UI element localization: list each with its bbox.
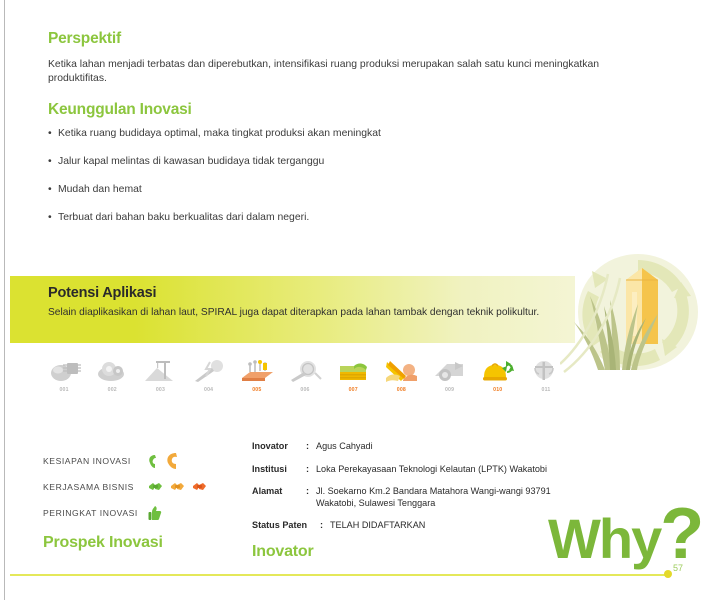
prospek-label: PERINGKAT INOVASI [43,508,148,518]
prospek-row-kesiapan: KESIAPAN INOVASI [43,448,248,474]
microchip-electronics-icon [40,356,88,384]
prospek-row-kerjasama: KERJASAMA BISNIS [43,474,248,500]
potensi-title: Potensi Aplikasi [48,285,156,301]
info-row-status-paten: Status Paten : TELAH DIDAFTARKAN [252,520,552,532]
info-value: TELAH DIDAFTARKAN [330,520,425,532]
prospek-inovasi-section: KESIAPAN INOVASI KERJASAMA BISNIS PERING… [43,448,248,552]
perspektif-title: Perspektif [48,30,648,48]
aquaculture-farm-icon [233,356,281,384]
info-colon: : [306,464,316,476]
machinery-gears-icon [88,356,136,384]
agriculture-field-icon [329,356,377,384]
sector-icon-005[interactable]: 005 [233,356,281,393]
list-item: Ketika ruang budidaya optimal, maka ting… [48,127,648,141]
perspektif-section: Perspektif Ketika lahan menjadi terbatas… [48,30,648,97]
handshake-icon-group [148,477,207,497]
list-item: Jalur kapal melintas di kawasan budidaya… [48,155,648,169]
handshake-icon [192,481,207,493]
sector-icon-011[interactable]: 011 [522,356,570,393]
sector-icon-strip: 001 002 003 004 005 006 007 [40,356,570,393]
potensi-body: Selain diaplikasikan di lahan laut, SPIR… [48,307,568,318]
potensi-aplikasi-banner: Potensi Aplikasi Selain diaplikasikan di… [10,276,575,343]
info-row-alamat: Alamat : Jl. Soekarno Km.2 Bandara Matah… [252,486,552,509]
harvest-grain-icon [377,356,425,384]
construction-crane-icon [136,356,184,384]
prospek-label: KERJASAMA BISNIS [43,482,148,492]
inovator-title: Inovator [252,543,314,561]
prospek-inovasi-title: Prospek Inovasi [43,534,248,552]
thumbs-up-icon [148,503,162,523]
transport-vehicle-icon [426,356,474,384]
icon-number: 003 [136,387,184,393]
icon-number: 010 [474,387,522,393]
prospek-label: KESIAPAN INOVASI [43,456,148,466]
keunggulan-section: Keunggulan Inovasi Ketika ruang budidaya… [48,101,648,239]
industry-plant-icon [522,356,570,384]
why-text: Why [548,507,660,570]
handshake-icon [170,481,185,493]
icon-number: 001 [40,387,88,393]
icon-number: 002 [88,387,136,393]
sector-icon-006[interactable]: 006 [281,356,329,393]
sector-icon-002[interactable]: 002 [88,356,136,393]
list-item: Mudah dan hemat [48,183,648,197]
info-colon: : [320,520,330,532]
sector-icon-009[interactable]: 009 [426,356,474,393]
readiness-meter-icon [148,451,180,471]
sector-icon-003[interactable]: 003 [136,356,184,393]
icon-number: 011 [522,387,570,393]
page-binding-edge [4,0,5,600]
decorative-seaweed-artwork [560,252,710,377]
sector-icon-008[interactable]: 008 [377,356,425,393]
info-key: Inovator [252,441,306,453]
sector-icon-007[interactable]: 007 [329,356,377,393]
icon-number: 005 [233,387,281,393]
icon-number: 004 [185,387,233,393]
prospek-row-peringkat: PERINGKAT INOVASI [43,500,248,526]
keunggulan-list: Ketika ruang budidaya optimal, maka ting… [48,127,648,225]
safety-helmet-recycle-icon [474,356,522,384]
info-key: Institusi [252,464,306,476]
info-colon: : [306,441,316,453]
keunggulan-title: Keunggulan Inovasi [48,101,648,119]
energy-lightning-icon [185,356,233,384]
list-item: Terbuat dari bahan baku berkualitas dari… [48,211,648,225]
page-number: 57 [673,563,683,573]
question-mark: ? [660,494,702,574]
info-value: Jl. Soekarno Km.2 Bandara Matahora Wangi… [316,486,552,509]
handshake-icon [148,481,163,493]
mining-drill-icon [281,356,329,384]
inovator-section: Inovator : Agus Cahyadi Institusi : Loka… [252,441,552,543]
info-row-institusi: Institusi : Loka Perekayasaan Teknologi … [252,464,552,476]
footer-rule [10,574,668,576]
icon-number: 007 [329,387,377,393]
icon-number: 008 [377,387,425,393]
footer-dot [664,570,672,578]
why-wordmark: Why? [548,506,708,576]
perspektif-body: Ketika lahan menjadi terbatas dan dipere… [48,58,648,86]
sector-icon-004[interactable]: 004 [185,356,233,393]
info-value: Loka Perekayasaan Teknologi Kelautan (LP… [316,464,547,476]
icon-number: 009 [426,387,474,393]
info-key: Status Paten [252,520,320,532]
info-row-inovator: Inovator : Agus Cahyadi [252,441,552,453]
info-colon: : [306,486,316,509]
info-value: Agus Cahyadi [316,441,373,453]
sector-icon-001[interactable]: 001 [40,356,88,393]
icon-number: 006 [281,387,329,393]
sector-icon-010[interactable]: 010 [474,356,522,393]
info-key: Alamat [252,486,306,509]
